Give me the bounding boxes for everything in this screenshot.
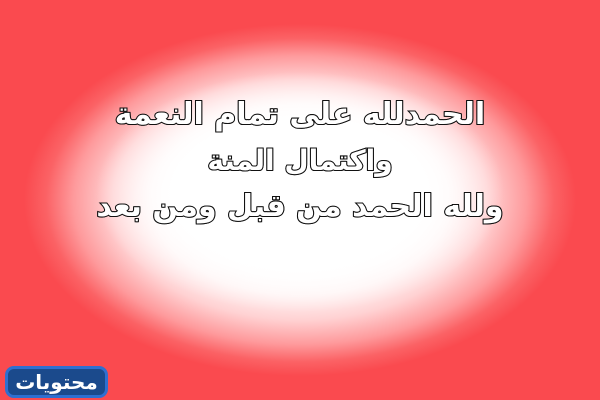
message-line-2: واكتمال المنة: [0, 138, 600, 184]
greeting-card: الحمدلله على تمام النعمة واكتمال المنة و…: [0, 0, 600, 400]
watermark-label: محتويات: [15, 372, 98, 392]
watermark-badge: محتويات: [5, 366, 108, 398]
message-block: الحمدلله على تمام النعمة واكتمال المنة و…: [0, 92, 600, 230]
message-line-3: ولله الحمد من قبل ومن بعد: [0, 184, 600, 230]
message-line-1: الحمدلله على تمام النعمة: [0, 92, 600, 138]
